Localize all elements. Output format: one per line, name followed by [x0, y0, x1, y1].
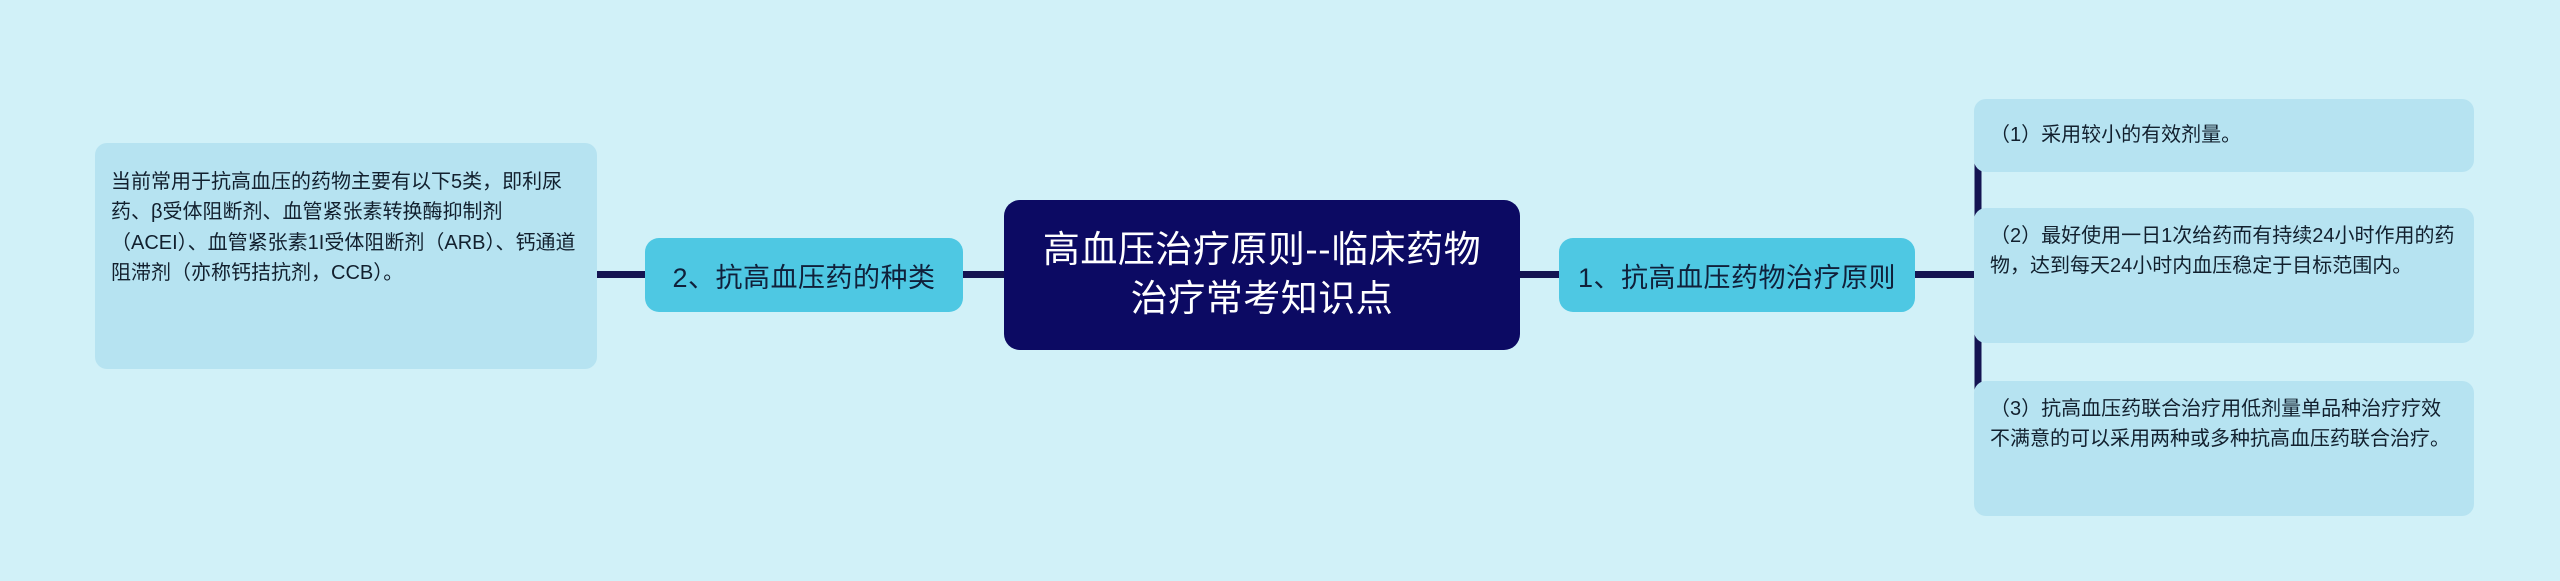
- branch-left-label: 2、抗高血压药的种类: [672, 256, 935, 295]
- leaf-right-principle-1[interactable]: （1）采用较小的有效剂量。: [1974, 99, 2474, 172]
- leaf-right-2-label: （2）最好使用一日1次给药而有持续24小时作用的药物，达到每天24小时内血压稳定…: [1990, 221, 2457, 282]
- branch-left-drug-types[interactable]: 2、抗高血压药的种类: [645, 238, 963, 312]
- mindmap-canvas: 当前常用于抗高血压的药物主要有以下5类，即利尿药、β受体阻断剂、血管紧张素转换酶…: [0, 0, 2560, 581]
- branch-right-treatment-principles[interactable]: 1、抗高血压药物治疗原则: [1559, 238, 1915, 312]
- leaf-right-1-label: （1）采用较小的有效剂量。: [1990, 120, 2241, 150]
- leaf-right-principle-3[interactable]: （3）抗高血压药联合治疗用低剂量单品种治疗疗效不满意的可以采用两种或多种抗高血压…: [1974, 381, 2474, 516]
- branch-right-label: 1、抗高血压药物治疗原则: [1578, 256, 1896, 295]
- connector-left-branch-to-root: [959, 271, 1009, 278]
- leaf-right-3-label: （3）抗高血压药联合治疗用低剂量单品种治疗疗效不满意的可以采用两种或多种抗高血压…: [1990, 394, 2457, 455]
- leaf-left-antihypertensive-drug-classes[interactable]: 当前常用于抗高血压的药物主要有以下5类，即利尿药、β受体阻断剂、血管紧张素转换酶…: [95, 143, 597, 369]
- leaf-right-principle-2[interactable]: （2）最好使用一日1次给药而有持续24小时作用的药物，达到每天24小时内血压稳定…: [1974, 208, 2474, 343]
- root-node-label: 高血压治疗原则--临床药物治疗常考知识点: [1030, 226, 1494, 324]
- connector-root-to-right-branch: [1515, 271, 1563, 278]
- root-node-hypertension-treatment-principles[interactable]: 高血压治疗原则--临床药物治疗常考知识点: [1004, 200, 1520, 350]
- leaf-left-label: 当前常用于抗高血压的药物主要有以下5类，即利尿药、β受体阻断剂、血管紧张素转换酶…: [111, 167, 580, 289]
